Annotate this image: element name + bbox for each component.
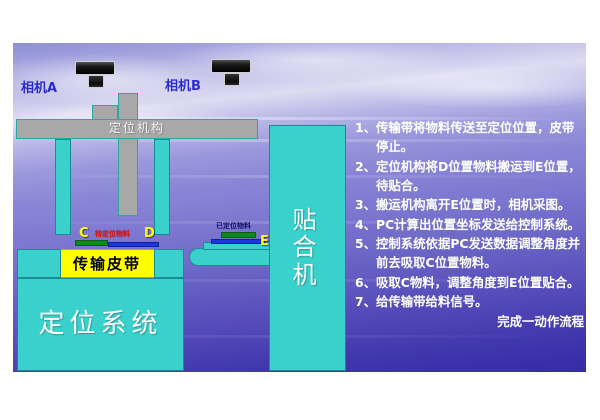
camera-body — [75, 61, 115, 75]
step-number: 2、 — [355, 157, 376, 176]
step-text: 吸取C物料，调整角度到E位置贴合。 — [376, 273, 586, 292]
laminator-label-text: 贴合机 — [279, 207, 337, 290]
step-text: 传输带将物料传送至定位位置，皮带停止。 — [376, 118, 586, 157]
camera-a-label: 相机A — [21, 77, 57, 96]
step-text: PC计算出位置坐标发送给控制系统。 — [376, 215, 586, 234]
positioning-system-label: 定位系统 — [17, 278, 184, 371]
camera-lens — [224, 73, 240, 86]
material-chip-blue-d — [108, 242, 159, 247]
step-row: 7、 给传输带给料信号。 — [355, 292, 586, 311]
step-number: 1、 — [355, 118, 376, 137]
step-row: 5、 控制系统依据PC发送数据调整角度并前去吸取C位置物料。 — [355, 234, 586, 273]
camera-b-label: 相机B — [165, 75, 201, 94]
screenshot-root: 相机A 相机B 定位机构 传输皮带 待定位物料 C D 定位 — [0, 0, 600, 420]
camera-body — [211, 59, 251, 73]
conveyor-support-right — [154, 249, 184, 278]
step-number: 6、 — [355, 273, 376, 292]
laminator-label: 贴合机 — [269, 125, 346, 371]
step-text: 搬运机构离开E位置时，相机采图。 — [376, 195, 586, 214]
camera-lens — [88, 75, 104, 88]
conveyor-support-left — [17, 249, 61, 278]
material-chip-green-e — [221, 232, 256, 238]
step-text: 定位机构将D位置物料搬运到E位置，待贴合。 — [376, 157, 586, 196]
process-steps-list: 1、 传输带将物料传送至定位位置，皮带停止。 2、 定位机构将D位置物料搬运到E… — [355, 118, 586, 332]
step-row: 6、 吸取C物料，调整角度到E位置贴合。 — [355, 273, 586, 292]
step-number: 3、 — [355, 195, 376, 214]
step-number: 7、 — [355, 292, 376, 311]
transfer-arm-platform — [189, 248, 278, 266]
conveyor-belt-box: 传输皮带 — [59, 249, 155, 278]
gantry-leg-left — [55, 139, 71, 235]
steps-footer: 完成一动作流程 — [355, 312, 586, 331]
gantry-vertical-column — [118, 93, 138, 216]
material-located-label: 已定位物料 — [216, 223, 251, 230]
marker-c: C — [79, 227, 89, 240]
step-row: 4、 PC计算出位置坐标发送给控制系统。 — [355, 215, 586, 234]
mechanism-label: 定位机构 — [16, 119, 258, 139]
step-text: 给传输带给料信号。 — [376, 292, 586, 311]
material-pending-label: 待定位物料 — [95, 231, 130, 238]
step-number: 5、 — [355, 234, 376, 253]
material-chip-blue-e — [211, 239, 265, 244]
step-text: 控制系统依据PC发送数据调整角度并前去吸取C位置物料。 — [376, 234, 586, 273]
step-row: 2、 定位机构将D位置物料搬运到E位置，待贴合。 — [355, 157, 586, 196]
marker-e: E — [260, 235, 269, 248]
cloud-wisp — [343, 65, 586, 109]
conveyor-belt-label: 传输皮带 — [73, 253, 141, 274]
step-row: 3、 搬运机构离开E位置时，相机采图。 — [355, 195, 586, 214]
step-number: 4、 — [355, 215, 376, 234]
gantry-leg-right — [154, 139, 170, 235]
marker-d: D — [144, 227, 155, 240]
step-row: 1、 传输带将物料传送至定位位置，皮带停止。 — [355, 118, 586, 157]
cloud-wisp — [163, 43, 463, 83]
